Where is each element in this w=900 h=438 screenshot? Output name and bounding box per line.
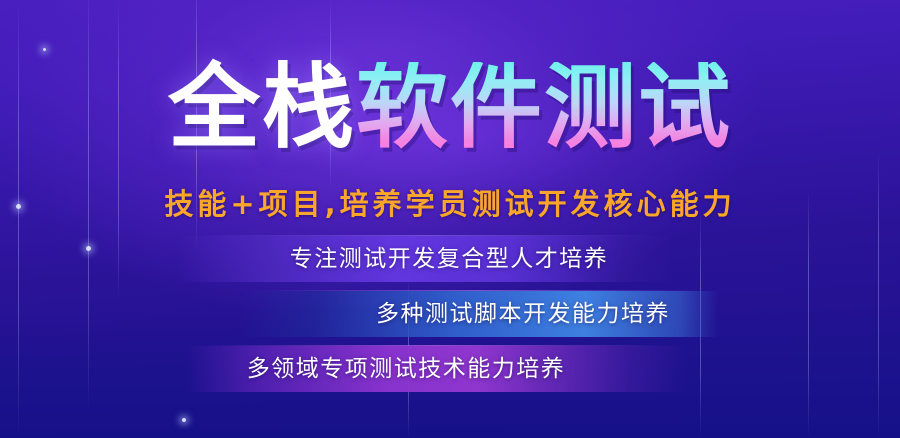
feature-bar-3: 多领域专项测试技术能力培养 [0, 346, 900, 392]
light-dot [43, 48, 46, 51]
feature-bar-3-label: 多领域专项测试技术能力培养 [186, 346, 688, 392]
headline-primary-text: 全栈 [168, 62, 356, 154]
feature-bar-1: 专注测试开发复合型人才培养 [0, 236, 900, 282]
feature-bar-list: 专注测试开发复合型人才培养 多种测试脚本开发能力培养 多领域专项测试技术能力培养 [0, 236, 900, 401]
headline-gradient-text: 软件测试 [356, 62, 732, 154]
feature-bar-2-label: 多种测试脚本开发能力培养 [240, 291, 718, 337]
subtitle: 技能+项目,培养学员测试开发核心能力 [0, 181, 900, 223]
light-dot [182, 418, 186, 422]
feature-bar-1-label: 专注测试开发复合型人才培养 [178, 236, 674, 282]
headline: 全栈软件测试 [0, 62, 900, 154]
feature-bar-2: 多种测试脚本开发能力培养 [0, 291, 900, 337]
promo-banner: 全栈软件测试 技能+项目,培养学员测试开发核心能力 专注测试开发复合型人才培养 … [0, 0, 900, 438]
